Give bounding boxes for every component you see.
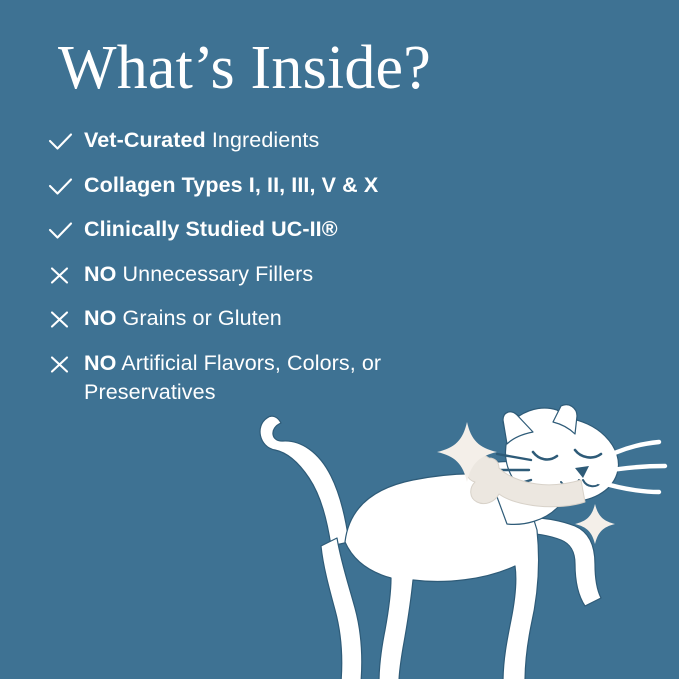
- list-item-emphasis: NO: [84, 351, 116, 375]
- cat-illustration: [245, 400, 679, 679]
- list-item-text: Clinically Studied UC-II®: [76, 215, 338, 244]
- page-title: What’s Inside?: [58, 36, 431, 101]
- cat-front-leg-far: [321, 538, 362, 679]
- list-item-emphasis: Collagen Types I, II, III, V & X: [84, 173, 378, 197]
- list-item-text: NO Unnecessary Fillers: [76, 260, 313, 289]
- list-item-emphasis: NO: [84, 306, 116, 330]
- check-icon: [46, 218, 76, 243]
- list-item-emphasis: Clinically Studied UC-II®: [84, 217, 338, 241]
- feature-list: Vet-Curated Ingredients Collagen Types I…: [46, 126, 516, 406]
- list-item: NO Grains or Gluten: [46, 304, 516, 333]
- list-item-text: NO Artificial Flavors, Colors, or Preser…: [76, 349, 516, 406]
- list-item: NO Artificial Flavors, Colors, or Preser…: [46, 349, 516, 406]
- list-item-rest: Unnecessary Fillers: [116, 262, 313, 286]
- check-icon: [46, 129, 76, 154]
- list-item: NO Unnecessary Fillers: [46, 260, 516, 289]
- list-item-rest: Artificial Flavors, Colors, or Preservat…: [84, 351, 381, 404]
- list-item-rest: Grains or Gluten: [116, 306, 281, 330]
- list-item-text: NO Grains or Gluten: [76, 304, 282, 333]
- list-item-rest: Ingredients: [206, 128, 320, 152]
- cross-icon: [46, 307, 76, 332]
- list-item: Clinically Studied UC-II®: [46, 215, 516, 244]
- cross-icon: [46, 352, 76, 377]
- list-item-text: Collagen Types I, II, III, V & X: [76, 171, 378, 200]
- list-item: Collagen Types I, II, III, V & X: [46, 171, 516, 200]
- list-item: Vet-Curated Ingredients: [46, 126, 516, 155]
- list-item-emphasis: Vet-Curated: [84, 128, 206, 152]
- promo-card: What’s Inside? Vet-Curated Ingredients C…: [0, 0, 679, 679]
- cat-tail: [260, 416, 349, 546]
- list-item-emphasis: NO: [84, 262, 116, 286]
- list-item-text: Vet-Curated Ingredients: [76, 126, 319, 155]
- cross-icon: [46, 263, 76, 288]
- check-icon: [46, 174, 76, 199]
